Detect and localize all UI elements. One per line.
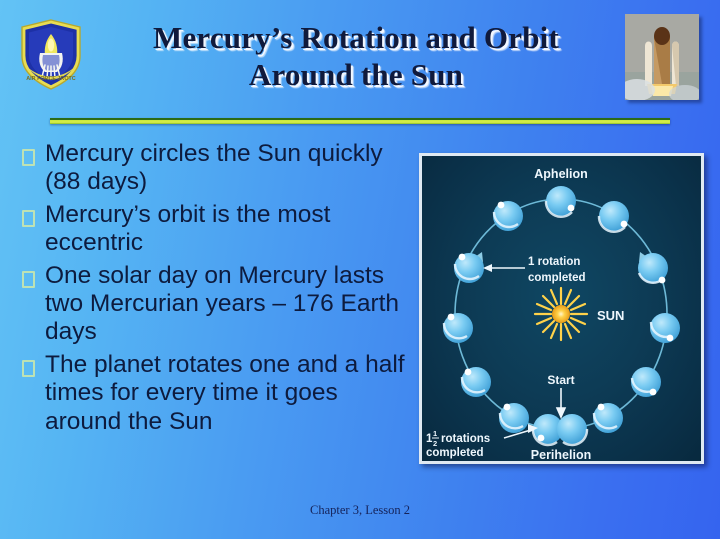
- emblem-ribbon-text: AIR FORCE JROTC: [26, 76, 76, 82]
- one-rotation-callout: 1 rotation completed: [483, 256, 586, 284]
- title-line-2: Around the Sun: [96, 57, 616, 94]
- one-rotation-line2: completed: [528, 272, 586, 284]
- list-item: Mercury’s orbit is the most eccentric: [18, 201, 418, 258]
- one-rotation-line1: 1 rotation: [528, 256, 580, 268]
- planet-marker: [599, 201, 629, 232]
- one-half-numerator: 1: [433, 429, 437, 438]
- bullet-text: Mercury’s orbit is the most eccentric: [45, 201, 418, 258]
- space-shuttle-launch-photo: [625, 14, 699, 100]
- planet-marker: [499, 403, 529, 433]
- one-half-whole: 1: [426, 433, 433, 445]
- sun-icon: [535, 288, 587, 340]
- list-item: Mercury circles the Sun quickly (88 days…: [18, 140, 418, 197]
- planet-marker: [454, 253, 484, 283]
- list-item: One solar day on Mercury lasts two Mercu…: [18, 262, 418, 347]
- bullet-marker-icon: [22, 210, 35, 227]
- list-item: The planet rotates one and a half times …: [18, 351, 418, 436]
- mercury-orbit-rotation-diagram: Aphelion Perihelion SUN Start 1 rotation…: [419, 153, 704, 464]
- bullet-marker-icon: [22, 149, 35, 166]
- title-divider-rule: [50, 118, 670, 124]
- planet-marker: [493, 201, 523, 231]
- aphelion-label: Aphelion: [534, 167, 587, 181]
- planet-marker: [631, 367, 661, 397]
- planet-marker: [593, 403, 623, 433]
- bullet-marker-icon: [22, 271, 35, 288]
- slide-canvas: AIR FORCE JROTC Mercury’s Rotation and O…: [0, 0, 720, 539]
- title-line-1: Mercury’s Rotation and Orbit: [153, 20, 559, 55]
- start-label: Start: [547, 373, 574, 387]
- bullet-text: One solar day on Mercury lasts two Mercu…: [45, 262, 418, 347]
- planet-marker: [546, 186, 576, 217]
- bullet-text: The planet rotates one and a half times …: [45, 351, 418, 436]
- planet-marker: [650, 313, 680, 343]
- planet-marker: [638, 253, 668, 283]
- footer-text: Chapter 3, Lesson 2: [0, 503, 720, 518]
- perihelion-label: Perihelion: [531, 448, 591, 461]
- sun-label: SUN: [597, 308, 624, 323]
- one-half-line2: completed: [426, 447, 484, 459]
- bullet-list: Mercury circles the Sun quickly (88 days…: [18, 140, 418, 440]
- page-title: Mercury’s Rotation and Orbit Around the …: [96, 20, 616, 93]
- start-arrow: [557, 388, 565, 417]
- one-half-word: rotations: [441, 433, 490, 445]
- bullet-text: Mercury circles the Sun quickly (88 days…: [45, 140, 418, 197]
- air-force-jrotc-emblem: AIR FORCE JROTC: [18, 18, 84, 92]
- planet-marker: [461, 367, 491, 397]
- bullet-marker-icon: [22, 360, 35, 377]
- planet-marker-perihelion: [533, 414, 587, 445]
- planet-marker: [443, 313, 473, 343]
